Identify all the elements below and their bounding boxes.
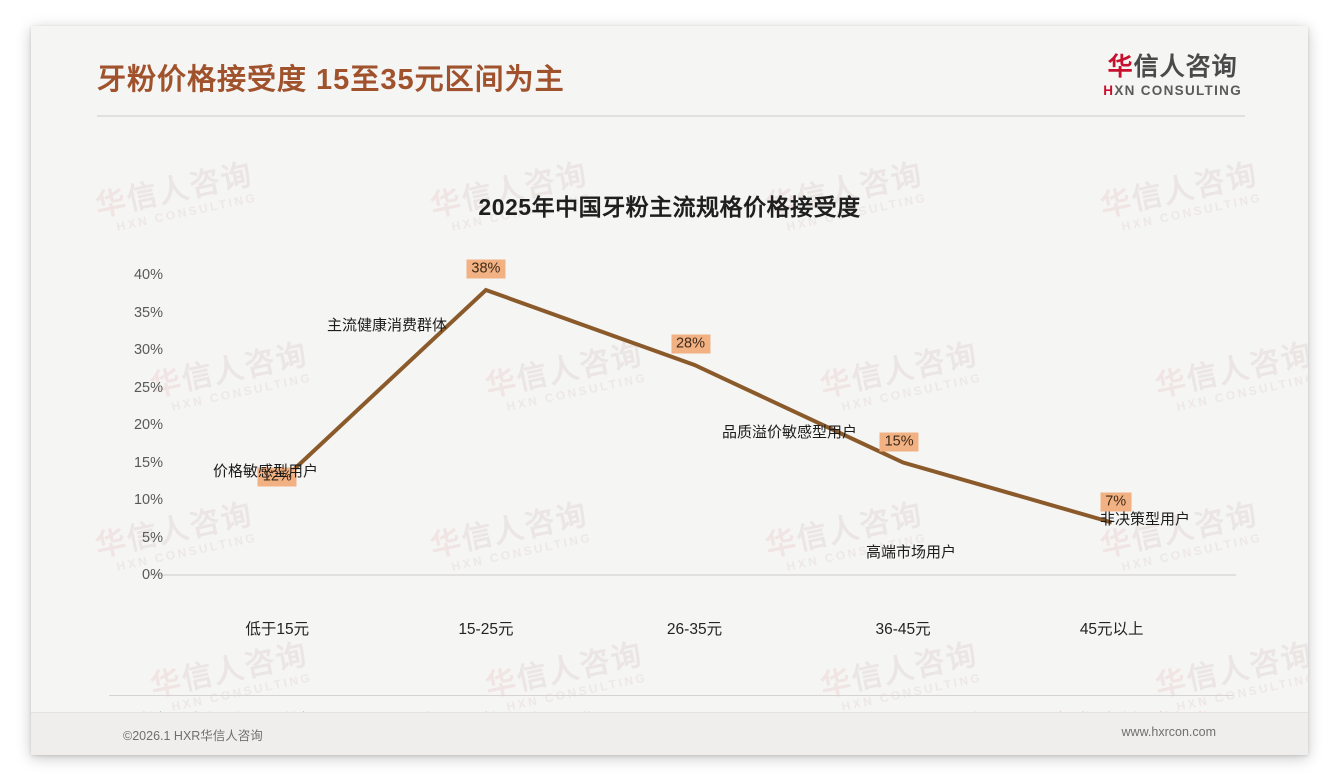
slide-canvas: 华信人咨询HXN CONSULTING华信人咨询HXN CONSULTING华信…: [31, 26, 1308, 755]
series-annotation: 非决策型用户: [1100, 508, 1190, 529]
line-chart: 40%35%30%25%20%15%10%5%0% 低于15元15-25元26-…: [31, 26, 1308, 755]
series-annotation: 品质溢价敏感型用户: [722, 421, 857, 442]
chart-svg: [31, 26, 1308, 755]
website-link[interactable]: www.hxrcon.com: [1122, 725, 1216, 739]
brand-logo-cn: 华信人咨询: [1103, 54, 1242, 80]
y-axis-tick-label: 5%: [142, 530, 163, 546]
y-axis-tick-label: 10%: [134, 492, 163, 508]
y-axis-tick-label: 35%: [134, 305, 163, 321]
data-point-label: 15%: [880, 432, 919, 451]
data-point-label: 28%: [671, 335, 710, 354]
brand-logo: 华信人咨询 HXN CONSULTING: [1103, 54, 1242, 98]
y-axis-tick-label: 25%: [134, 380, 163, 396]
x-axis-tick-label: 26-35元: [667, 617, 722, 639]
data-point-label: 38%: [466, 260, 505, 279]
brand-logo-en: HXN CONSULTING: [1103, 83, 1242, 98]
slide-header: 牙粉价格接受度 15至35元区间为主 华信人咨询 HXN CONSULTING: [31, 26, 1308, 120]
y-axis-tick-label: 20%: [134, 417, 163, 433]
brand-logo-en-red: H: [1103, 83, 1114, 98]
y-axis-tick-label: 0%: [142, 567, 163, 583]
bottom-bar: ©2026.1 HXR华信人咨询 www.hxrcon.com: [31, 712, 1308, 755]
header-divider: [97, 115, 1245, 117]
brand-logo-cn-red: 华: [1108, 53, 1134, 81]
y-axis-tick-label: 15%: [134, 455, 163, 471]
series-annotation: 高端市场用户: [866, 541, 956, 562]
y-axis-tick-label: 30%: [134, 342, 163, 358]
y-axis-ticks: 40%35%30%25%20%15%10%5%0%: [71, 26, 163, 755]
series-annotation: 价格敏感型用户: [213, 460, 318, 481]
brand-logo-en-rest: XN CONSULTING: [1114, 83, 1242, 98]
page-title: 牙粉价格接受度 15至35元区间为主: [97, 56, 565, 98]
x-axis-tick-label: 36-45元: [876, 617, 931, 639]
x-axis-tick-label: 15-25元: [458, 617, 513, 639]
copyright-text: ©2026.1 HXR华信人咨询: [123, 725, 263, 744]
brand-logo-cn-rest: 信人咨询: [1134, 53, 1238, 81]
footer-divider: [109, 695, 1233, 696]
x-axis-tick-label: 低于15元: [245, 617, 309, 639]
y-axis-tick-label: 40%: [134, 267, 163, 283]
chart-title: 2025年中国牙粉主流规格价格接受度: [31, 188, 1308, 222]
x-axis-tick-label: 45元以上: [1080, 617, 1144, 639]
series-annotation: 主流健康消费群体: [327, 314, 447, 335]
